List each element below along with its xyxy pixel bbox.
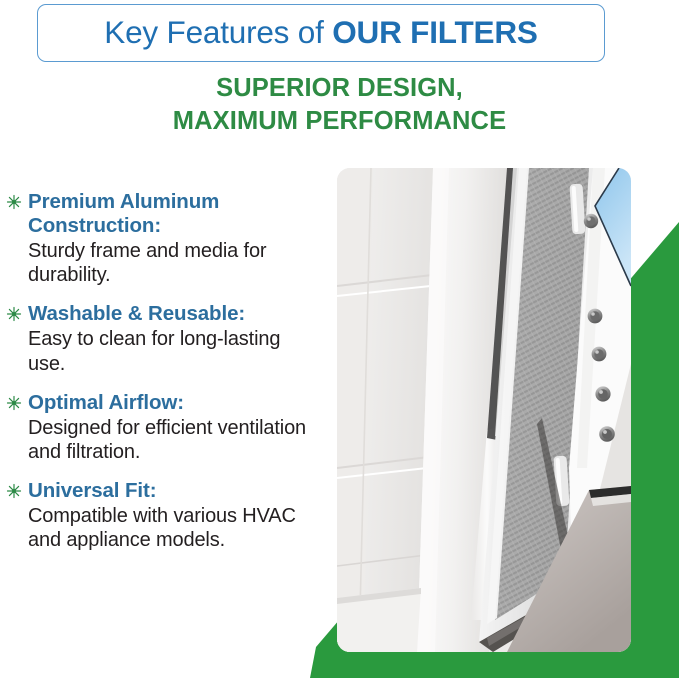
page-title-plain: Key Features of bbox=[104, 14, 332, 50]
feature-list: Premium Aluminum Construction: Sturdy fr… bbox=[4, 190, 322, 567]
starburst-asterisk-icon bbox=[6, 306, 22, 322]
infographic-page: Key Features of OUR FILTERS SUPERIOR DES… bbox=[0, 0, 679, 678]
feature-heading: Universal Fit: bbox=[28, 479, 322, 503]
subtitle-line-2: MAXIMUM PERFORMANCE bbox=[0, 105, 679, 138]
starburst-asterisk-icon bbox=[6, 395, 22, 411]
feature-description: Easy to clean for long-lasting use. bbox=[28, 327, 322, 375]
subtitle-line-1: SUPERIOR DESIGN, bbox=[0, 72, 679, 105]
page-title-strong: OUR FILTERS bbox=[332, 14, 537, 50]
page-subtitle: SUPERIOR DESIGN, MAXIMUM PERFORMANCE bbox=[0, 72, 679, 137]
feature-heading: Optimal Airflow: bbox=[28, 391, 322, 415]
range-hood-illustration bbox=[337, 168, 631, 652]
feature-item: Optimal Airflow: Designed for efficient … bbox=[4, 391, 322, 464]
product-photo bbox=[337, 168, 631, 652]
starburst-asterisk-icon bbox=[6, 194, 22, 210]
title-banner: Key Features of OUR FILTERS bbox=[37, 4, 605, 62]
feature-description: Sturdy frame and media for durability. bbox=[28, 239, 322, 287]
feature-heading: Washable & Reusable: bbox=[28, 302, 322, 326]
page-title: Key Features of OUR FILTERS bbox=[104, 17, 537, 49]
feature-description: Compatible with various HVAC and applian… bbox=[28, 504, 322, 552]
starburst-asterisk-icon bbox=[6, 483, 22, 499]
feature-item: Universal Fit: Compatible with various H… bbox=[4, 479, 322, 552]
feature-description: Designed for efficient ventilation and f… bbox=[28, 416, 322, 464]
feature-heading: Premium Aluminum Construction: bbox=[28, 190, 322, 238]
feature-item: Premium Aluminum Construction: Sturdy fr… bbox=[4, 190, 322, 287]
feature-item: Washable & Reusable: Easy to clean for l… bbox=[4, 302, 322, 375]
